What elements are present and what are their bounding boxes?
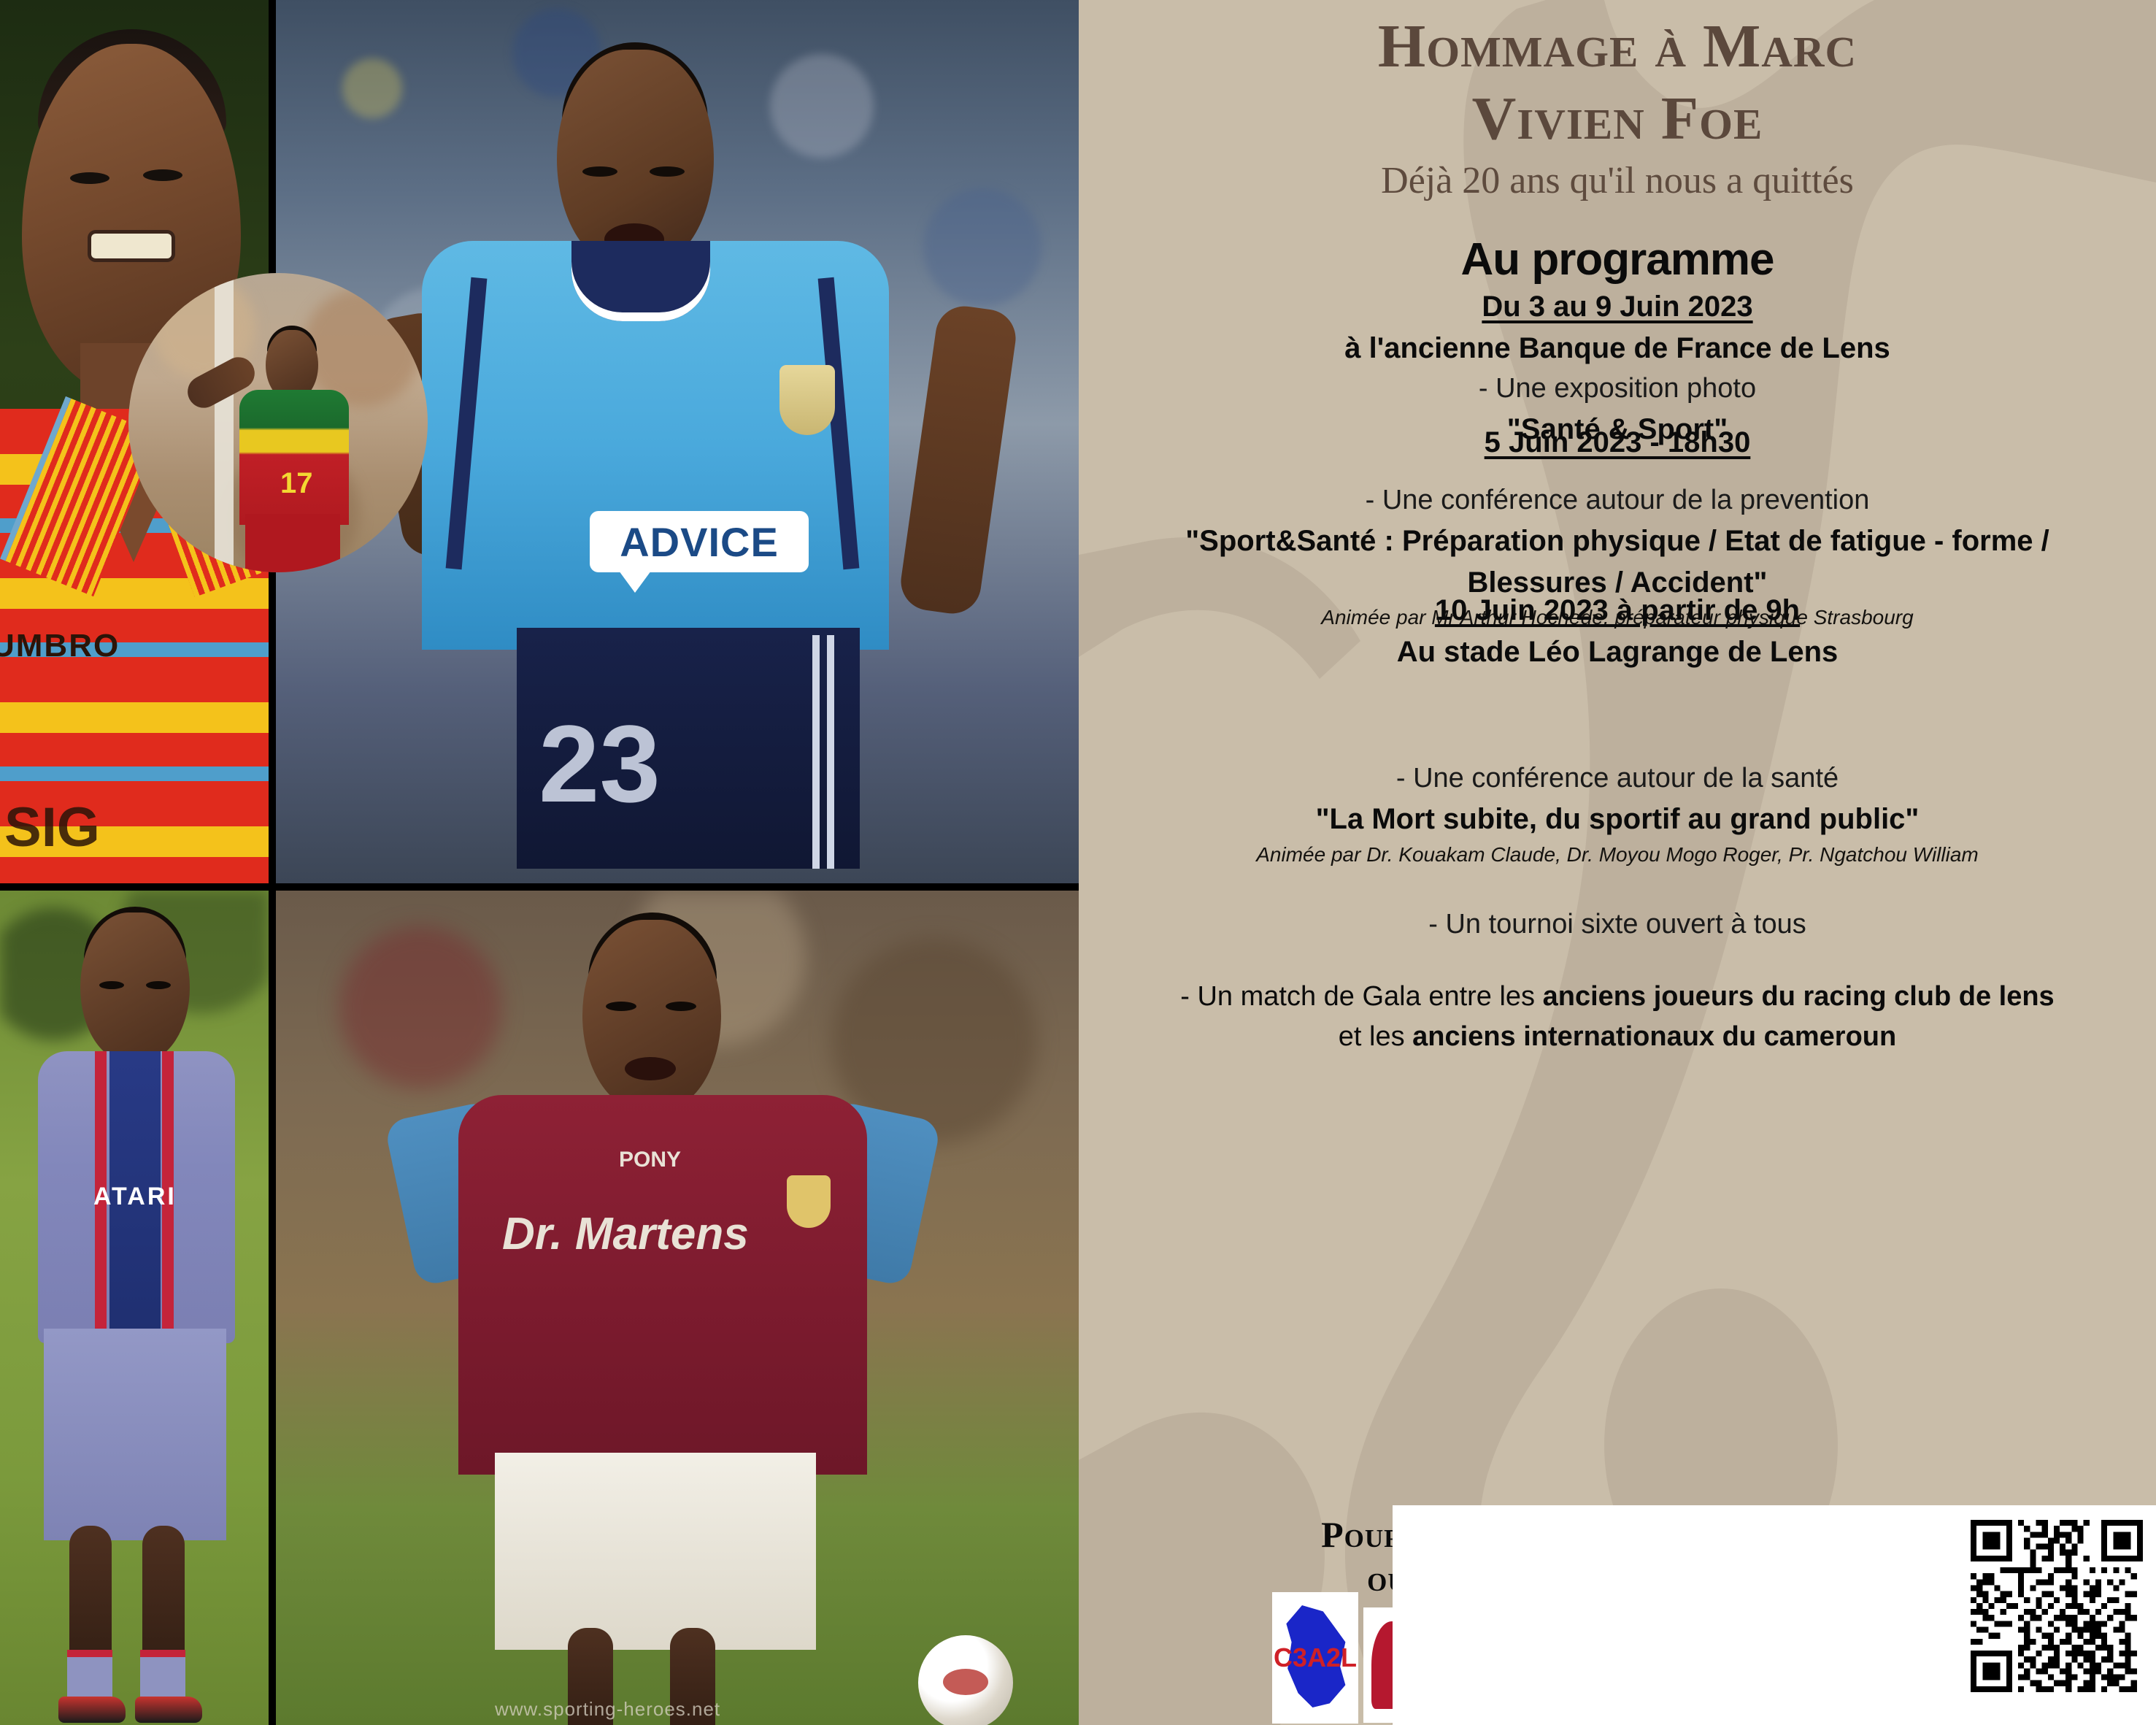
smile-shape bbox=[91, 234, 172, 258]
block-presenter: Animée par Dr. Kouakam Claude, Dr. Moyou… bbox=[1108, 840, 2127, 869]
goal-post bbox=[215, 273, 234, 572]
block-item: - Une exposition photo bbox=[1108, 369, 2127, 409]
boot-right bbox=[135, 1697, 202, 1723]
gala-lead-1: - Un match de Gala entre les bbox=[1180, 981, 1542, 1012]
gala-bold-2: anciens internationaux du cameroun bbox=[1412, 1021, 1896, 1052]
collar-shape bbox=[571, 241, 710, 321]
speech-bubble-tail bbox=[619, 571, 651, 593]
collage-divider-vertical bbox=[269, 0, 276, 1725]
collage-divider-horizontal-right bbox=[276, 883, 1079, 891]
sponsor-label: C3A2L bbox=[1274, 1643, 1357, 1673]
eye-left bbox=[99, 981, 124, 989]
block-place: à l'ancienne Banque de France de Lens bbox=[1108, 328, 2127, 369]
eye-right bbox=[146, 981, 171, 989]
shorts-stripe-1 bbox=[812, 635, 820, 869]
block-item-title: "La Mort subite, du sportif au grand pub… bbox=[1108, 799, 2127, 840]
photo-center-circular: 17 bbox=[128, 273, 428, 572]
cameroon-jersey bbox=[239, 390, 349, 525]
page-subtitle: Déjà 20 ans qu'il nous a quittés bbox=[1079, 159, 2156, 202]
jersey-sponsor-text: SIG bbox=[4, 796, 100, 859]
eye-left bbox=[582, 166, 617, 177]
block-date: 10 Juin 2023 à partir de 9h bbox=[1108, 590, 2127, 631]
info-panel: Hommage à Marc Vivien Foe Déjà 20 ans qu… bbox=[1079, 0, 2156, 1725]
program-block-10-juin: 10 Juin 2023 à partir de 9h Au stade Léo… bbox=[1108, 590, 2127, 673]
shorts-shape bbox=[44, 1329, 226, 1540]
title-line-1: Hommage à Marc bbox=[1079, 10, 2156, 82]
photo-bottom-right: PONY Dr. Martens www.sporting-heroes.net bbox=[276, 891, 1079, 1725]
program-block-tournoi-gala: - Un tournoi sixte ouvert à tous - Un ma… bbox=[1108, 905, 2127, 1057]
club-badge bbox=[779, 365, 835, 435]
eye-left bbox=[606, 1002, 636, 1011]
page-title: Hommage à Marc Vivien Foe bbox=[1079, 10, 2156, 155]
jersey-sponsor-text: ADVICE bbox=[590, 511, 809, 572]
gala-line-1: - Un match de Gala entre les anciens jou… bbox=[1108, 977, 2127, 1017]
mouth-shape bbox=[625, 1057, 676, 1080]
eye-right bbox=[666, 1002, 696, 1011]
boot-left bbox=[58, 1697, 126, 1723]
photo-bottom-left: ATARI bbox=[0, 891, 269, 1725]
jersey-sponsor-text: ATARI bbox=[93, 1183, 177, 1211]
block-item-tournoi: - Un tournoi sixte ouvert à tous bbox=[1108, 905, 2127, 945]
shorts-shape bbox=[245, 514, 340, 572]
eye-left bbox=[70, 172, 109, 184]
block-place: Au stade Léo Lagrange de Lens bbox=[1108, 631, 2127, 673]
collage-divider-horizontal-left bbox=[0, 883, 269, 891]
jersey-brand-text: UMBRO bbox=[0, 628, 120, 664]
gala-lead-2: et les bbox=[1339, 1021, 1412, 1052]
block-date: 5 Juin 2023 - 18h30 bbox=[1108, 422, 2127, 464]
club-badge bbox=[787, 1175, 831, 1228]
jersey-sponsor-text: Dr. Martens bbox=[502, 1212, 749, 1257]
jersey-brand-text: PONY bbox=[619, 1148, 681, 1172]
shorts-stripe-2 bbox=[827, 635, 834, 869]
head-shape bbox=[80, 913, 190, 1062]
photo-collage: UMBRO SIG ADVICE 23 bbox=[0, 0, 1079, 1725]
poster: UMBRO SIG ADVICE 23 bbox=[0, 0, 2156, 1725]
eye-right bbox=[650, 166, 685, 177]
jersey-number: 17 bbox=[280, 467, 313, 500]
program-heading: Au programme bbox=[1079, 234, 2156, 285]
shorts-shape bbox=[495, 1453, 816, 1650]
football-shape bbox=[918, 1635, 1013, 1725]
gala-bold-1: anciens joueurs du racing club de lens bbox=[1543, 981, 2055, 1012]
gala-line-2: et les anciens internationaux du camerou… bbox=[1108, 1017, 2127, 1057]
block-date: Du 3 au 9 Juin 2023 bbox=[1108, 286, 2127, 328]
block-item: - Une conférence autour de la santé bbox=[1108, 759, 2127, 799]
sponsor-logo-c3a2l: C3A2L bbox=[1272, 1592, 1358, 1724]
program-block-conference-sante: - Une conférence autour de la santé "La … bbox=[1108, 759, 2127, 869]
shorts-number: 23 bbox=[539, 701, 661, 827]
title-line-2: Vivien Foe bbox=[1079, 82, 2156, 155]
head-shape bbox=[582, 920, 721, 1111]
eye-right bbox=[143, 169, 182, 181]
qr-code[interactable] bbox=[1971, 1520, 2143, 1692]
block-item-title-line-1: "Sport&Santé : Préparation physique / Et… bbox=[1108, 520, 2127, 562]
photo-watermark: www.sporting-heroes.net bbox=[495, 1698, 720, 1721]
block-item: - Une conférence autour de la prevention bbox=[1108, 481, 2127, 520]
